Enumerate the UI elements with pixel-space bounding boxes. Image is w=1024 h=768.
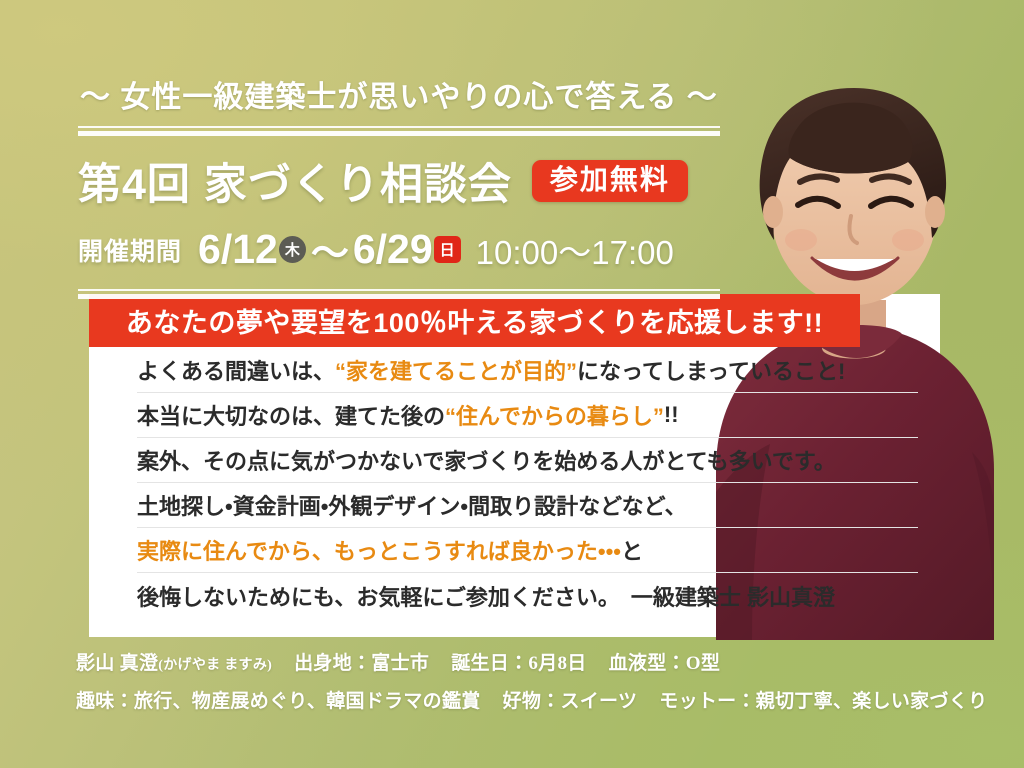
message-text: 案外、その点に気がつかないで家づくりを始める人がとても多いです。 — [137, 444, 836, 476]
profile-motto: モットー：親切丁寧、楽しい家づくり — [659, 691, 987, 712]
profile-favorite: 好物：スイーツ — [503, 691, 638, 712]
profile-bloodtype: 血液型：O型 — [609, 653, 721, 674]
banner-header: ～ 女性一級建築士が思いやりの心で答える ～ 第4回 家づくり相談会 参加無料 … — [78, 72, 738, 299]
message-line-list: よくある間違いは、“家を建てることが目的”になってしまっていること!本当に大切な… — [89, 347, 940, 637]
panel-headline-text: あなたの夢や要望を100％叶える家づくりを応援します!! — [126, 301, 823, 340]
highlighted-phrase: 実際に住んでから、もっとこうすれば良かった••• — [137, 534, 621, 566]
free-entry-badge: 参加無料 — [532, 160, 688, 202]
message-text: !! — [664, 402, 679, 428]
highlighted-phrase: “住んでからの暮らし” — [445, 399, 664, 431]
message-text: 本当に大切なのは、建てた後の — [137, 399, 445, 431]
tagline: ～ 女性一級建築士が思いやりの心で答える ～ — [80, 72, 738, 116]
divider-rule-top — [78, 126, 720, 136]
date-label: 開催期間 — [78, 232, 182, 268]
title-row: 第4回 家づくり相談会 参加無料 — [78, 150, 738, 212]
date-end: 6/29 — [353, 226, 433, 273]
highlighted-phrase: “家を建てることが目的” — [335, 354, 577, 386]
profile-name-kana: (かげやま ますみ) — [158, 658, 272, 673]
divider-rule-bottom — [78, 289, 720, 299]
profile-hobby: 趣味：旅行、物産展めぐり、韓国ドラマの鑑賞 — [76, 691, 481, 712]
message-line: 土地探し•資金計画•外観デザイン•間取り設計などなど、 — [137, 483, 918, 528]
profile-name: 影山 真澄 — [76, 653, 158, 674]
weekday-badge-end: 日 — [434, 236, 461, 263]
message-line: 案外、その点に気がつかないで家づくりを始める人がとても多いです。 — [137, 438, 918, 483]
message-line: 後悔しないためにも、お気軽にご参加ください。 一級建築士 影山真澄 — [137, 573, 918, 618]
message-text: と — [621, 534, 643, 566]
profile-row-1: 影山 真澄(かげやま ますみ)出身地：富士市誕生日：6月8日血液型：O型 — [76, 648, 956, 675]
profile-birthplace: 出身地：富士市 — [294, 653, 429, 674]
date-range-mark: ～ — [311, 222, 349, 277]
message-text: よくある間違いは、 — [137, 354, 335, 386]
message-line: よくある間違いは、“家を建てることが目的”になってしまっていること! — [137, 347, 918, 393]
page-title: 第4回 家づくり相談会 — [78, 150, 512, 212]
profile-birthday: 誕生日：6月8日 — [451, 653, 586, 674]
message-line: 実際に住んでから、もっとこうすれば良かった•••と — [137, 528, 918, 573]
seminar-banner: ～ 女性一級建築士が思いやりの心で答える ～ 第4回 家づくり相談会 参加無料 … — [0, 0, 1024, 768]
event-time: 10:00～17:00 — [476, 226, 674, 274]
weekday-badge-start: 木 — [279, 236, 306, 263]
event-date-row: 開催期間 6/12 木 ～ 6/29 日 10:00～17:00 — [78, 222, 738, 277]
message-text: 土地探し•資金計画•外観デザイン•間取り設計などなど、 — [137, 489, 687, 521]
architect-profile: 影山 真澄(かげやま ますみ)出身地：富士市誕生日：6月8日血液型：O型 趣味：… — [76, 648, 956, 724]
profile-row-2: 趣味：旅行、物産展めぐり、韓国ドラマの鑑賞好物：スイーツモットー：親切丁寧、楽し… — [76, 686, 956, 713]
panel-headline-bar: あなたの夢や要望を100％叶える家づくりを応援します!! — [89, 294, 860, 347]
message-text: 後悔しないためにも、お気軽にご参加ください。 一級建築士 影山真澄 — [137, 580, 835, 612]
date-start: 6/12 — [198, 226, 278, 273]
message-line: 本当に大切なのは、建てた後の“住んでからの暮らし”!! — [137, 393, 918, 438]
message-text: になってしまっていること! — [577, 354, 845, 386]
